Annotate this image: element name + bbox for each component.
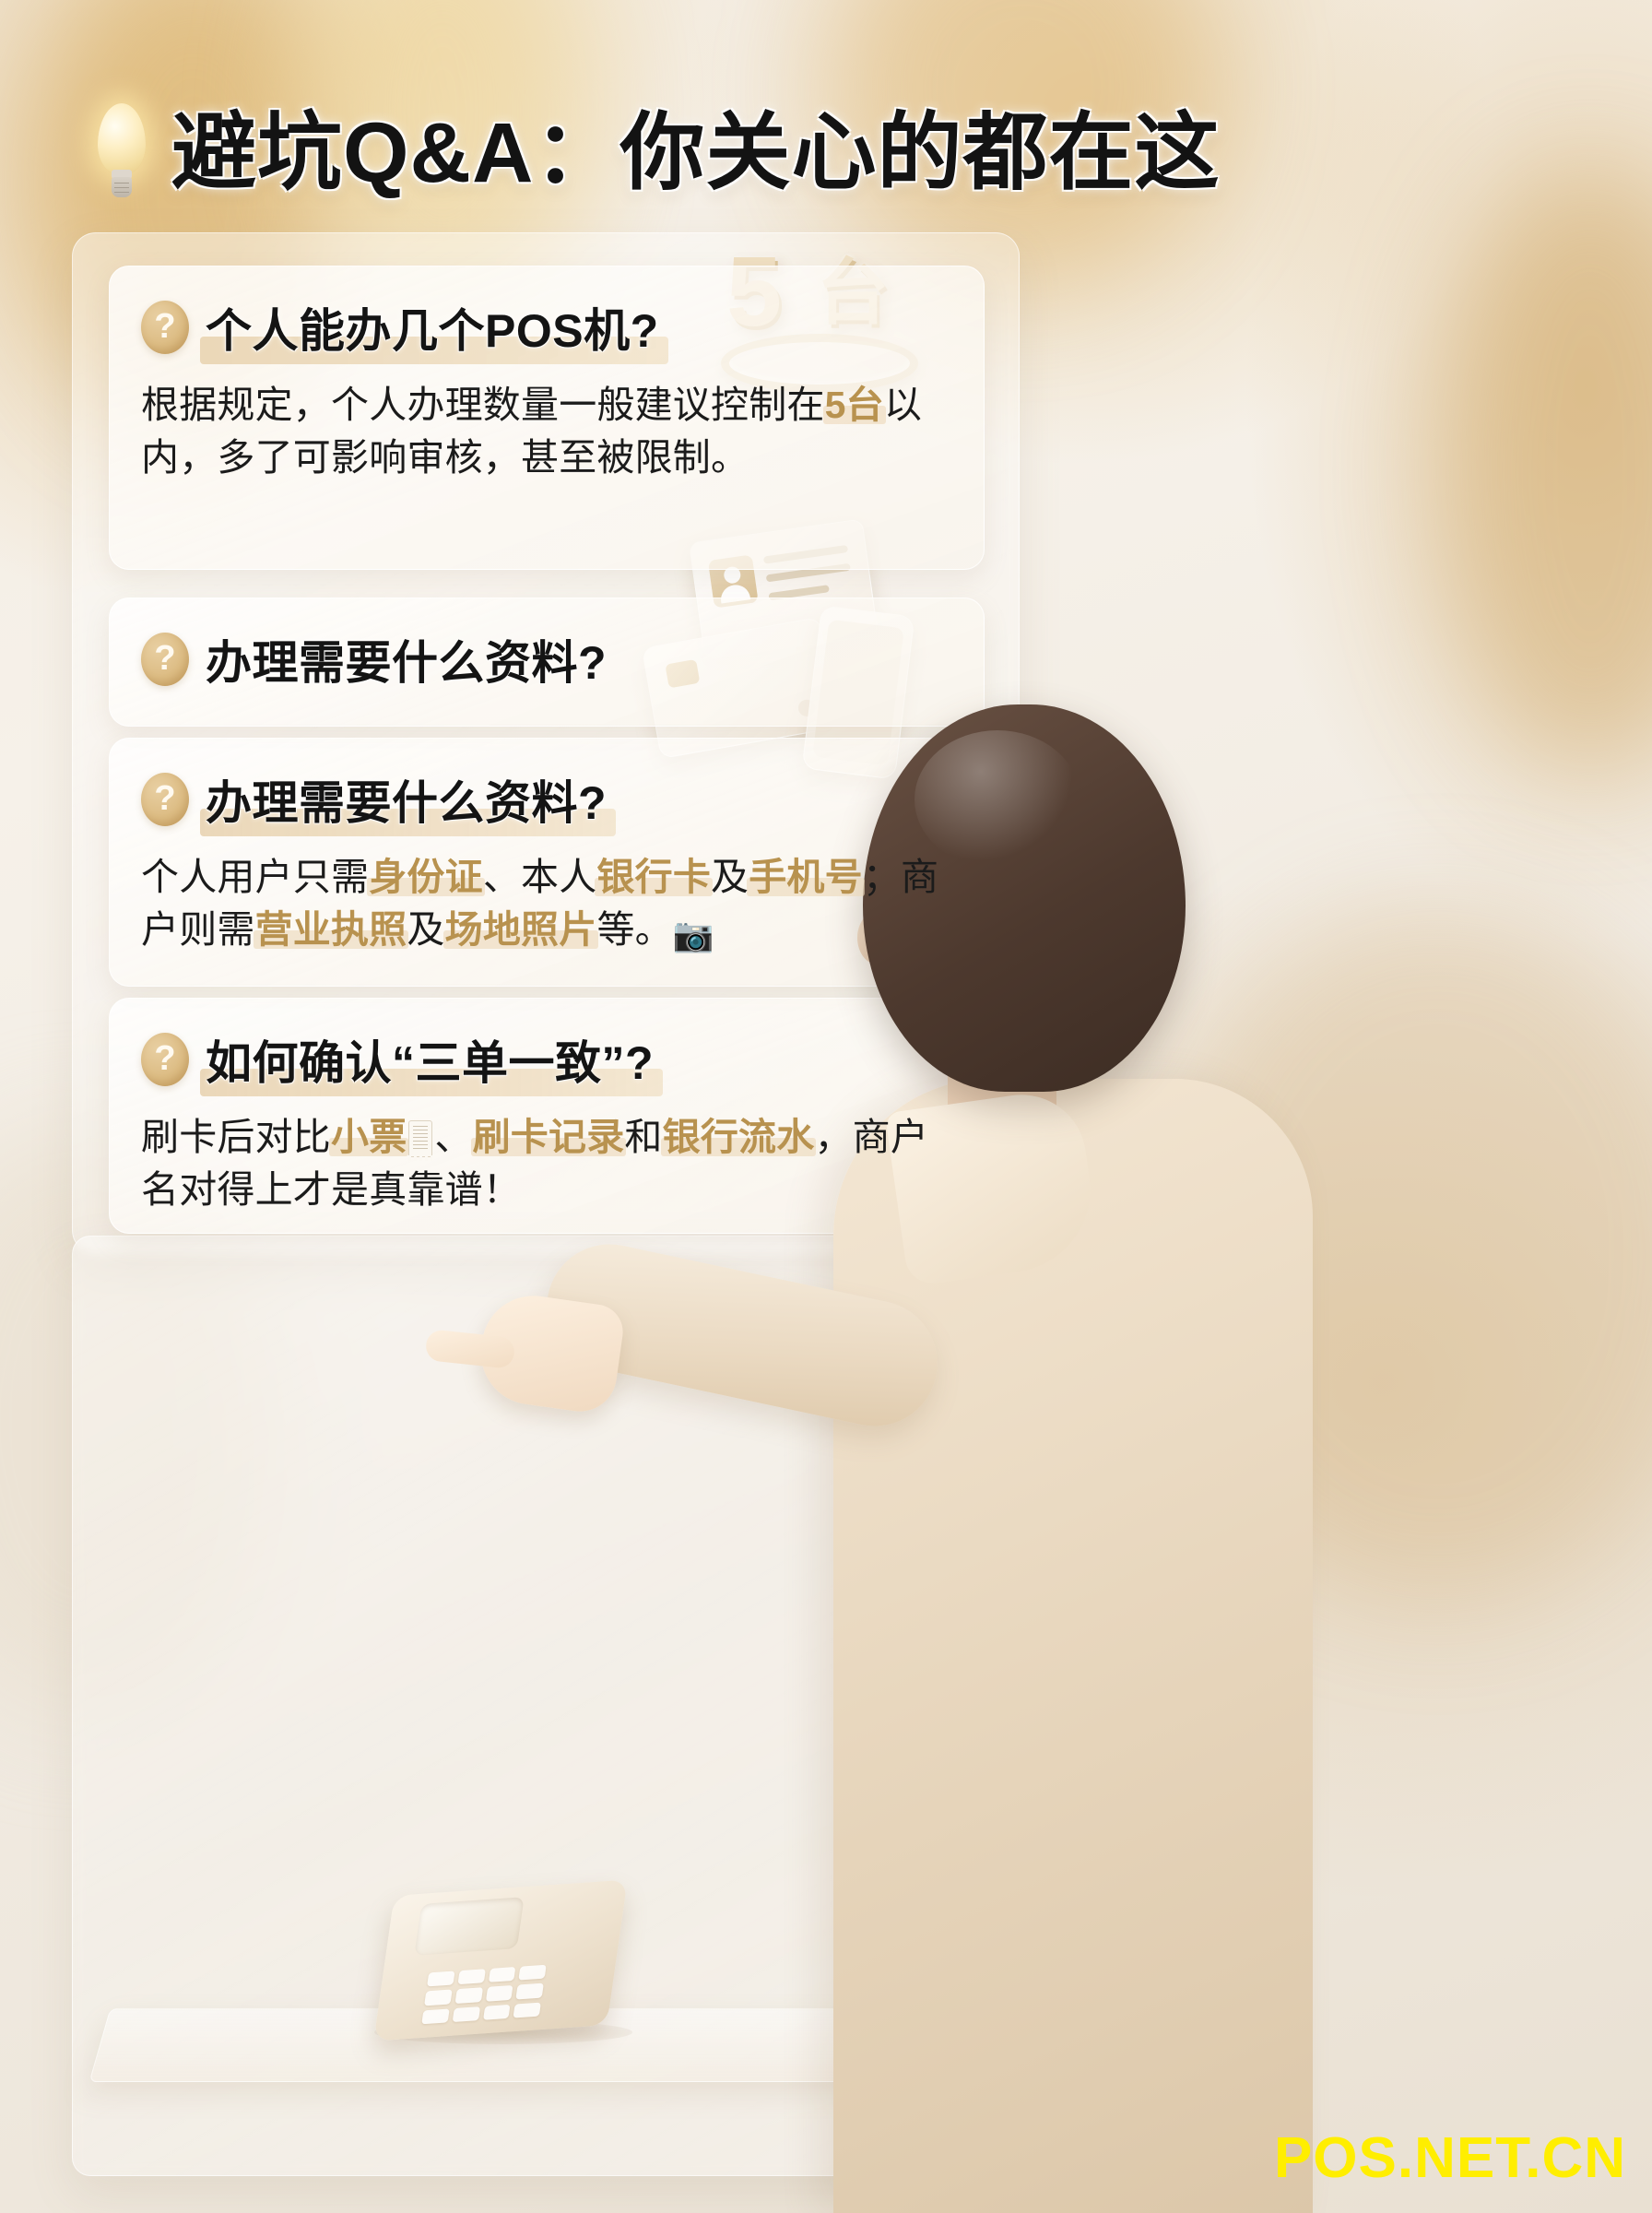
- answer-plain-text: 、: [434, 1116, 472, 1158]
- answer-keyword: 银行流水: [663, 1116, 815, 1158]
- answer-plain-text: 及: [711, 856, 749, 898]
- answer-plain-text: 个人用户只需: [141, 856, 369, 898]
- receipt-icon: [408, 1120, 432, 1157]
- answer-keyword: 手机号: [749, 856, 863, 898]
- qa-card[interactable]: ? 个人能办几个POS机? 根据规定，个人办理数量一般建议控制在5台以内，多了可…: [109, 266, 985, 570]
- question-text: 个人能办几个POS机?: [206, 294, 659, 361]
- answer-plain-text: 和: [624, 1116, 662, 1158]
- page-title: 避坑Q&A：你关心的都在这: [171, 109, 1220, 198]
- answer-plain-text: 根据规定，个人办理数量一般建议控制在: [141, 384, 825, 426]
- answer-plain-text: 、本人: [483, 856, 597, 898]
- answer-keyword: 身份证: [369, 856, 483, 898]
- answer-plain-text: 及: [407, 908, 444, 951]
- question-mark-icon: ?: [141, 633, 189, 686]
- answer-plain-text: 刷卡后对比: [141, 1116, 331, 1158]
- answer-keyword: 场地照片: [445, 908, 597, 951]
- question-text: 办理需要什么资料?: [206, 766, 607, 833]
- answer-keyword: 小票: [331, 1116, 407, 1158]
- question-row: ? 办理需要什么资料?: [141, 766, 952, 833]
- qa-card[interactable]: ? 办理需要什么资料? 个人用户只需身份证、本人银行卡及手机号；商户则需营业执照…: [109, 738, 985, 987]
- qa-card[interactable]: ? 如何确认“三单一致”? 刷卡后对比小票、刷卡记录和银行流水，商户名对得上才是…: [109, 998, 985, 1234]
- question-mark-icon: ?: [141, 773, 189, 826]
- answer-keyword: 5台: [825, 384, 884, 426]
- question-text: 办理需要什么资料?: [206, 626, 607, 692]
- answer-plain-text: 等。: [596, 908, 672, 951]
- site-watermark: POS.NET.CN: [1274, 2125, 1626, 2191]
- lightbulb-icon: [88, 100, 155, 207]
- question-row: ? 个人能办几个POS机?: [141, 294, 952, 361]
- answer-keyword: 银行卡: [596, 856, 711, 898]
- answer-text: 刷卡后对比小票、刷卡记录和银行流水，商户名对得上才是真靠谱！: [141, 1111, 952, 1215]
- page-header: 避坑Q&A：你关心的都在这: [88, 89, 1121, 218]
- answer-keyword: 刷卡记录: [473, 1116, 625, 1158]
- question-mark-icon: ?: [141, 1033, 189, 1086]
- answer-keyword: 营业执照: [255, 908, 407, 951]
- pos-terminal-3d-graphic: [330, 1840, 653, 2052]
- question-mark-icon: ?: [141, 301, 189, 354]
- answer-text: 个人用户只需身份证、本人银行卡及手机号；商户则需营业执照及场地照片等。📷: [141, 851, 952, 957]
- answer-text: 根据规定，个人办理数量一般建议控制在5台以内，多了可影响审核，甚至被限制。: [141, 379, 952, 483]
- question-row: ? 如何确认“三单一致”?: [141, 1026, 952, 1093]
- question-row: ? 办理需要什么资料?: [141, 626, 952, 692]
- camera-icon: 📷: [673, 916, 714, 953]
- question-text: 如何确认“三单一致”?: [206, 1026, 654, 1093]
